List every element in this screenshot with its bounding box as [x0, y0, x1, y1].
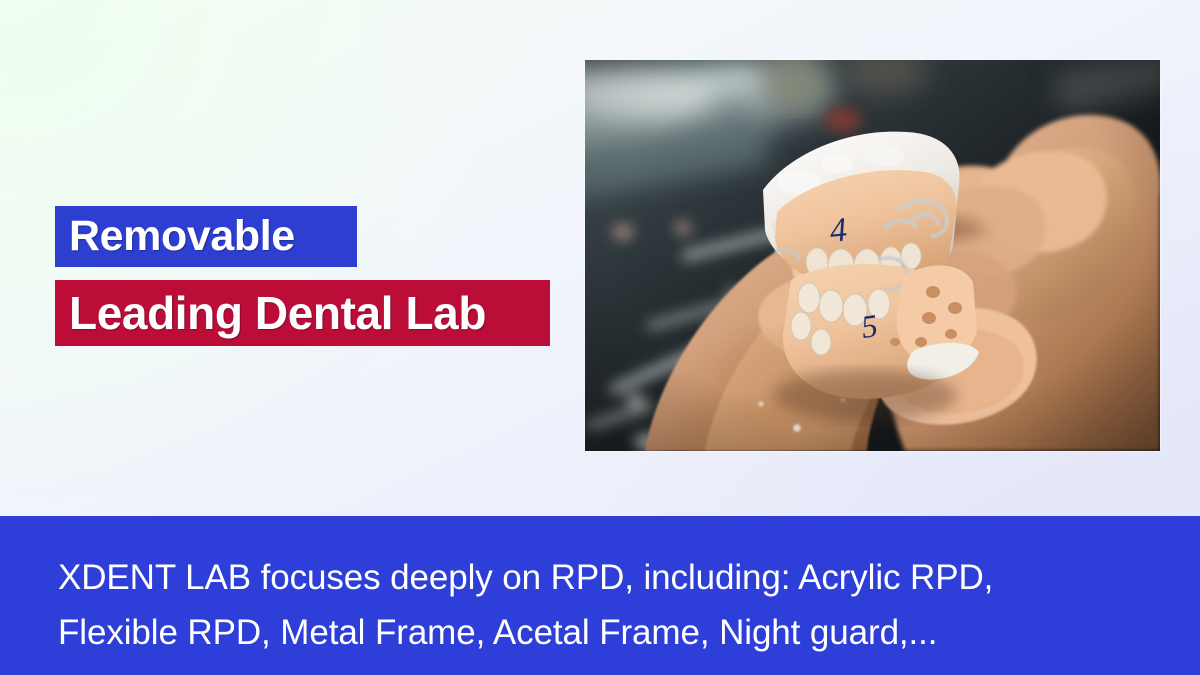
headline-group: Removable Leading Dental Lab — [55, 206, 550, 346]
caption-line-2: Flexible RPD, Metal Frame, Acetal Frame,… — [58, 605, 1138, 660]
headline-badge-primary: Removable — [55, 206, 357, 267]
headline-badge-secondary: Leading Dental Lab — [55, 280, 550, 346]
dental-model-photo: 4 — [585, 60, 1160, 451]
slide-canvas: Removable Leading Dental Lab — [0, 0, 1200, 675]
caption-banner: XDENT LAB focuses deeply on RPD, includi… — [0, 516, 1200, 675]
photo-frame: 4 — [585, 60, 1160, 451]
caption-line-1: XDENT LAB focuses deeply on RPD, includi… — [58, 550, 1138, 605]
caption-text: XDENT LAB focuses deeply on RPD, includi… — [58, 550, 1138, 660]
